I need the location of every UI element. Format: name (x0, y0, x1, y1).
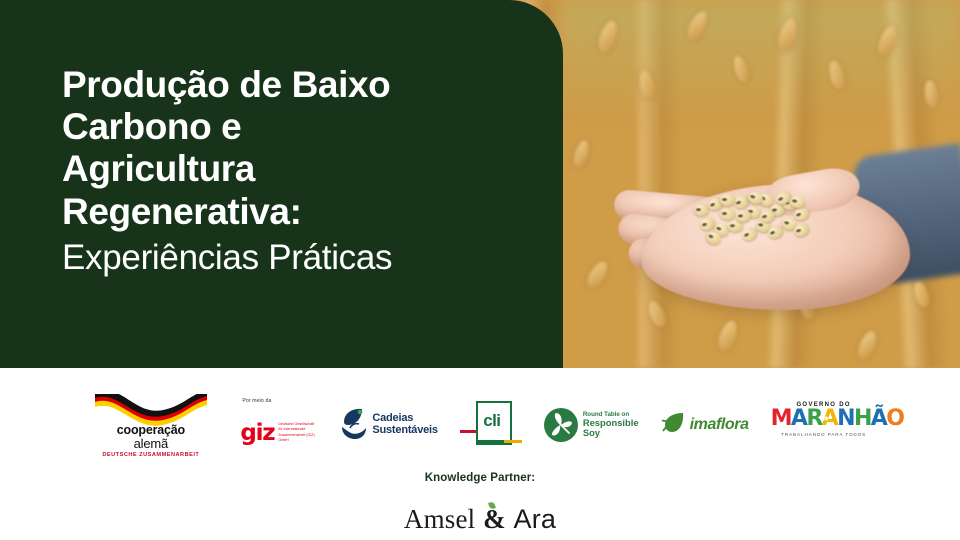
ampersand-leaf: & (483, 504, 506, 534)
soy-pod (731, 54, 753, 85)
coop-line1: cooperação (83, 424, 218, 437)
logo-round-table-responsible-soy[interactable]: Round Table on Responsible Soy (544, 390, 639, 460)
soy-leaf-circle-icon (544, 408, 578, 442)
ara-text: Ara (513, 504, 556, 534)
soy-pod (684, 8, 711, 43)
partner-logo-row: cooperação alemã DEUTSCHE ZUSAMMENARBEIT… (0, 386, 960, 464)
giz-description: Deutsche Gesellschaft für Internationale… (278, 422, 318, 444)
hero-banner: Produção de Baixo Carbono e Agricultura … (0, 0, 960, 368)
logo-cadeias-sustentaveis[interactable]: Cadeias Sustentáveis (340, 390, 437, 460)
title-line-4: Regenerativa: (62, 191, 302, 232)
soy-pod (595, 18, 621, 55)
maranhao-letter: N (837, 406, 854, 431)
maranhao-wordmark: MARANHÃO★ (771, 408, 877, 430)
soybean-seed (694, 204, 709, 217)
leaf-hand-icon (340, 406, 368, 445)
soybean-seeds (690, 190, 820, 248)
rtrs-line3: Soy (583, 428, 639, 438)
soybean-seed (720, 208, 735, 220)
logo-amsel-and-ara[interactable]: Amsel & Ara (0, 504, 960, 535)
soy-pod (637, 69, 657, 101)
amsel-text: Amsel (404, 504, 476, 534)
soy-pod (584, 258, 612, 291)
logo-cli[interactable]: cli (460, 390, 522, 460)
maranhao-letter: A (791, 406, 806, 431)
cli-yellow-bar (504, 440, 522, 443)
soybean-seed (720, 194, 735, 206)
title-line-2: Carbono e (62, 106, 241, 147)
slide-root: Produção de Baixo Carbono e Agricultura … (0, 0, 960, 540)
maranhao-letter: H (854, 406, 871, 431)
cadeias-line2: Sustentáveis (372, 425, 437, 437)
cli-wordmark: cli (476, 401, 508, 441)
soybean-seed (735, 209, 752, 223)
maranhao-star-icon: ★ (823, 415, 829, 423)
logo-german-cooperation[interactable]: cooperação alemã DEUTSCHE ZUSAMMENARBEIT (83, 390, 218, 460)
soy-pod (776, 17, 800, 54)
maranhao-bottom-text: TRABALHANDO PARA TODOS (771, 432, 877, 437)
maranhao-letter: Ã (871, 406, 886, 431)
knowledge-partner-block: Knowledge Partner: Amsel & Ara (0, 472, 960, 535)
title-line-3: Agricultura (62, 148, 255, 189)
title-line-1: Produção de Baixo (62, 64, 390, 105)
soy-pod (875, 23, 900, 58)
giz-prefix: Por meio da (242, 398, 271, 404)
coop-line2: alemã (83, 437, 218, 451)
soy-pod (923, 79, 941, 109)
page-subtitle: Experiências Práticas (62, 237, 542, 279)
soy-pod (571, 139, 591, 169)
soy-pod (855, 328, 880, 361)
logo-imaflora[interactable]: imaflora (661, 390, 749, 460)
page-title: Produção de Baixo Carbono e Agricultura … (62, 64, 542, 233)
imaflora-wordmark: imaflora (690, 416, 749, 434)
maranhao-letter: R (806, 406, 821, 431)
logo-governo-do-maranhao[interactable]: GOVERNO DO MARANHÃO★ TRABALHANDO PARA TO… (771, 390, 877, 460)
cli-green-bar (476, 440, 506, 443)
footer-logos-band: cooperação alemã DEUTSCHE ZUSAMMENARBEIT… (0, 368, 960, 540)
knowledge-partner-label: Knowledge Partner: (0, 472, 960, 484)
imaflora-leaf-icon (661, 411, 687, 440)
ampersand-text: & (483, 504, 506, 534)
logo-giz[interactable]: Por meio da giz Deutsche Gesellschaft fü… (240, 390, 318, 460)
title-block: Produção de Baixo Carbono e Agricultura … (62, 64, 542, 279)
giz-wordmark: giz (240, 420, 274, 446)
soy-pod (826, 59, 848, 92)
maranhao-letter: O (886, 406, 903, 431)
coop-line3: DEUTSCHE ZUSAMMENARBEIT (83, 452, 218, 458)
maranhao-letter: M (771, 406, 791, 431)
